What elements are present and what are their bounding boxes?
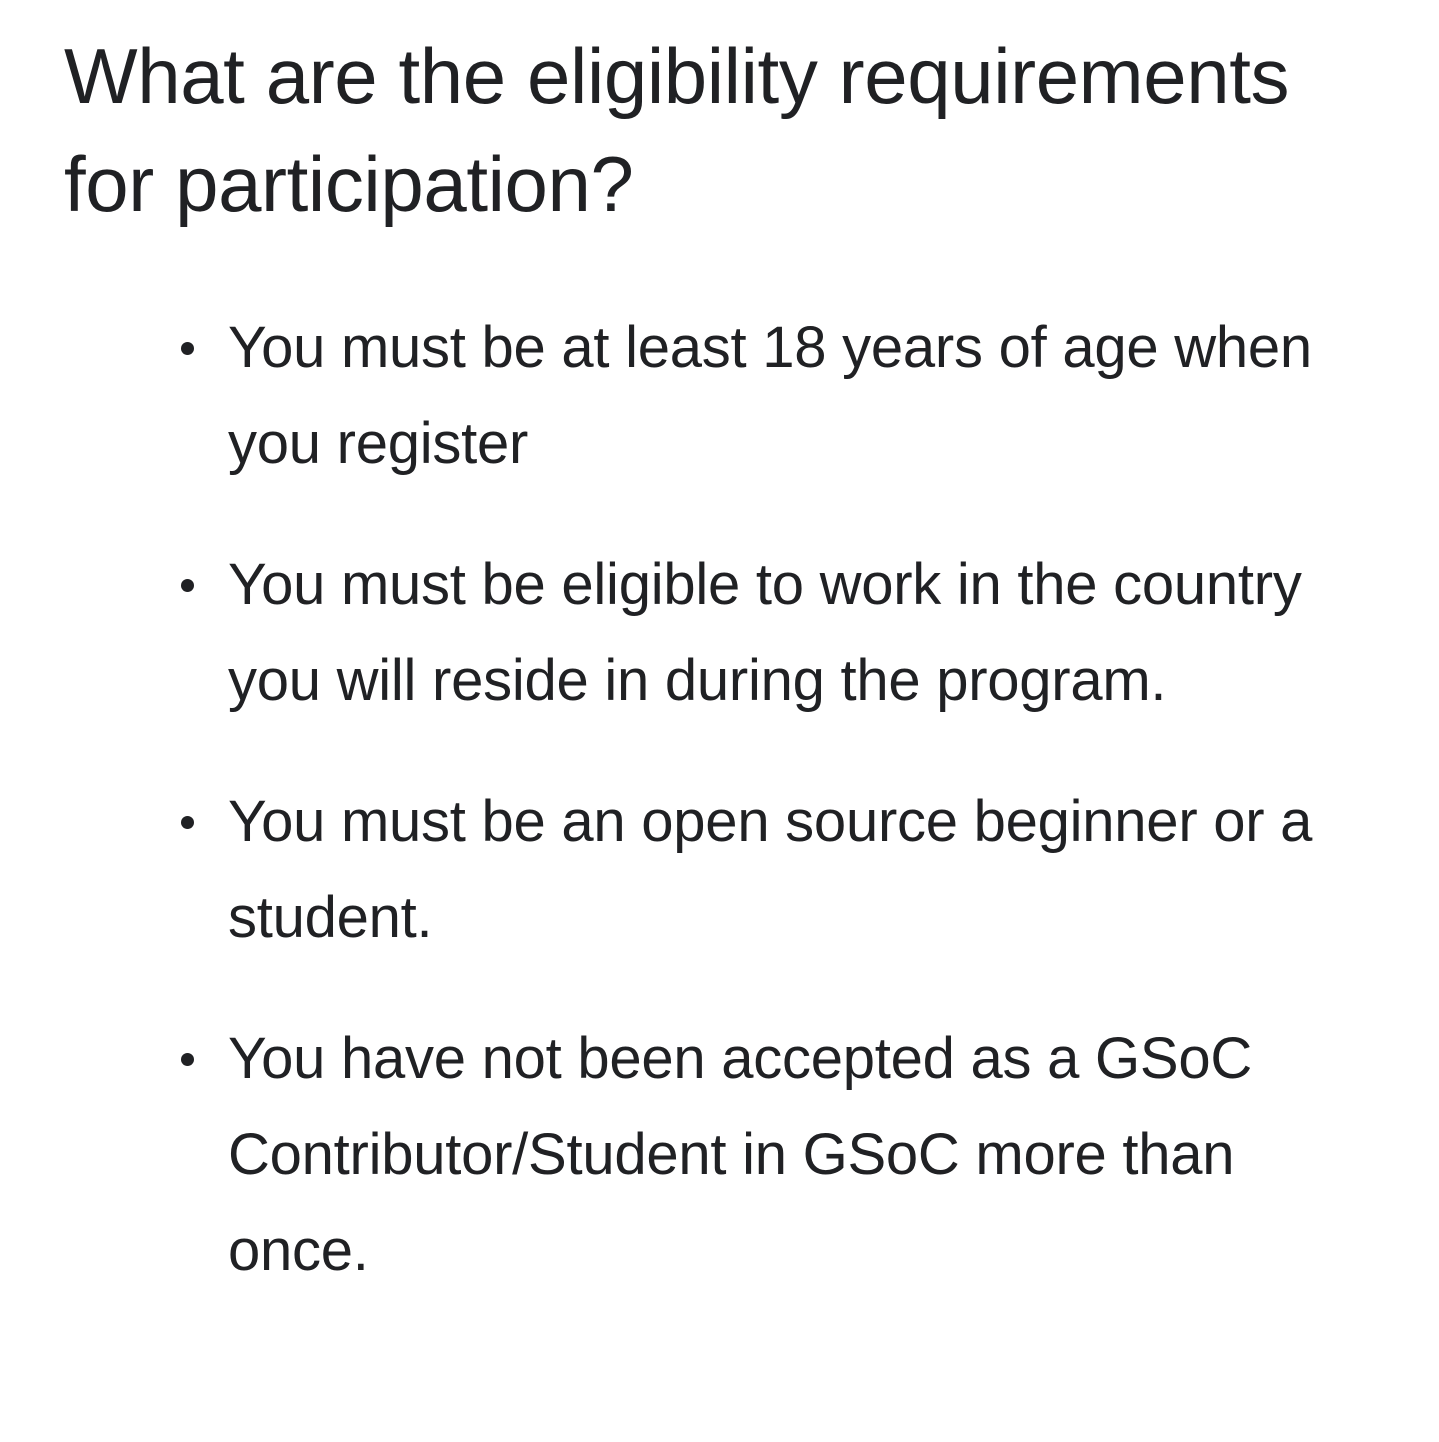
list-item-text: You have not been accepted as a GSoC Con…: [228, 1011, 1373, 1299]
bullet-dot-icon: [181, 342, 194, 355]
faq-page: What are the eligibility requirements fo…: [0, 0, 1439, 1442]
bullet-dot-icon: [181, 579, 194, 592]
bullet-dot-icon: [181, 816, 194, 829]
list-item-text: You must be an open source beginner or a…: [228, 774, 1373, 966]
list-item: You have not been accepted as a GSoC Con…: [0, 1011, 1439, 1299]
list-item-text: You must be at least 18 years of age whe…: [228, 300, 1373, 492]
bullet-dot-icon: [181, 1053, 194, 1066]
list-item-text: You must be eligible to work in the coun…: [228, 537, 1373, 729]
list-item: You must be an open source beginner or a…: [0, 774, 1439, 966]
faq-answer-body: You must be at least 18 years of age whe…: [0, 300, 1439, 1299]
eligibility-requirements-list: You must be at least 18 years of age whe…: [0, 300, 1439, 1299]
faq-question-heading: What are the eligibility requirements fo…: [64, 22, 1384, 238]
list-item: You must be at least 18 years of age whe…: [0, 300, 1439, 492]
list-item: You must be eligible to work in the coun…: [0, 537, 1439, 729]
